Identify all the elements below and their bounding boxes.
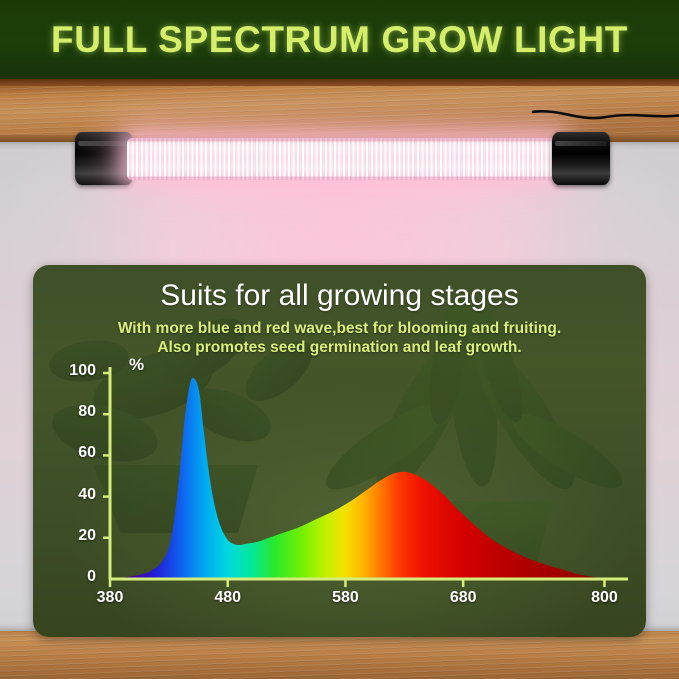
page-title: FULL SPECTRUM GROW LIGHT: [51, 19, 628, 61]
y-tick-label: 60: [54, 444, 96, 462]
led-tube-rim: [127, 138, 559, 180]
y-tick-label: 40: [54, 486, 96, 504]
spectrum-chart: % 020406080100380480580680800: [33, 357, 646, 637]
y-tick-label: 20: [54, 527, 96, 545]
x-tick-label: 800: [574, 589, 634, 607]
panel-heading: Suits for all growing stages: [33, 279, 646, 313]
power-cord-icon: [532, 106, 679, 126]
bottom-wood-shelf: [0, 631, 679, 679]
y-axis-unit-label: %: [129, 355, 144, 375]
product-infographic: FULL SPECTRUM GROW LIGHT: [0, 0, 679, 679]
y-tick-label: 100: [54, 362, 96, 380]
panel-subtitle-line-2: Also promotes seed germination and leaf …: [33, 339, 646, 358]
info-panel: Suits for all growing stages With more b…: [33, 265, 646, 637]
panel-subtitle-line-1: With more blue and red wave,best for blo…: [33, 320, 646, 339]
spectrum-area: [110, 378, 628, 579]
x-tick-label: 680: [433, 589, 493, 607]
y-tick-label: 0: [54, 568, 96, 586]
grow-light-fixture: [75, 131, 610, 187]
x-tick-label: 480: [198, 589, 258, 607]
x-tick-label: 580: [315, 589, 375, 607]
lamp-end-cap-left: [75, 132, 133, 185]
y-tick-label: 80: [54, 403, 96, 421]
lamp-end-cap-right: [552, 132, 610, 185]
header-banner: FULL SPECTRUM GROW LIGHT: [0, 0, 679, 79]
x-tick-label: 380: [80, 589, 140, 607]
panel-subtitle: With more blue and red wave,best for blo…: [33, 320, 646, 358]
product-photo-scene: Suits for all growing stages With more b…: [0, 79, 679, 679]
